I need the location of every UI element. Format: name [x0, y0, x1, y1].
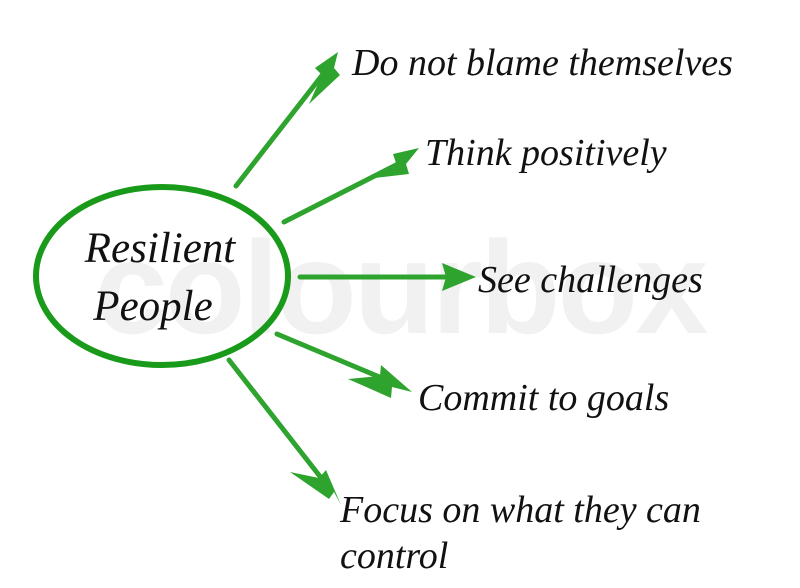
branch-label-see-challenges[interactable]: See challenges [478, 259, 703, 301]
arrow-head-1 [309, 52, 340, 104]
arrow-shaft-5 [229, 360, 322, 479]
center-label-line2: People [92, 283, 212, 330]
branch-label-think-positively[interactable]: Think positively [425, 132, 667, 174]
center-ellipse[interactable] [36, 187, 288, 365]
arrow-branch-2 [284, 148, 419, 222]
arrow-shaft-1 [236, 69, 327, 186]
center-label-line1: Resilient [84, 225, 237, 272]
branch-label-do-not-blame-themselves[interactable]: Do not blame themselves [351, 42, 733, 84]
branch-label-focus-on-control-line2[interactable]: control [340, 535, 448, 577]
arrow-head-5 [290, 470, 341, 505]
branch-label-focus-on-control-line1[interactable]: Focus on what they can [339, 489, 701, 531]
radial-diagram: colourbox Resilient People [0, 0, 800, 588]
diagram-canvas: colourbox Resilient People [0, 0, 800, 588]
arrow-branch-5 [229, 360, 341, 505]
branch-label-commit-to-goals[interactable]: Commit to goals [418, 377, 669, 419]
arrow-branch-1 [236, 52, 340, 186]
